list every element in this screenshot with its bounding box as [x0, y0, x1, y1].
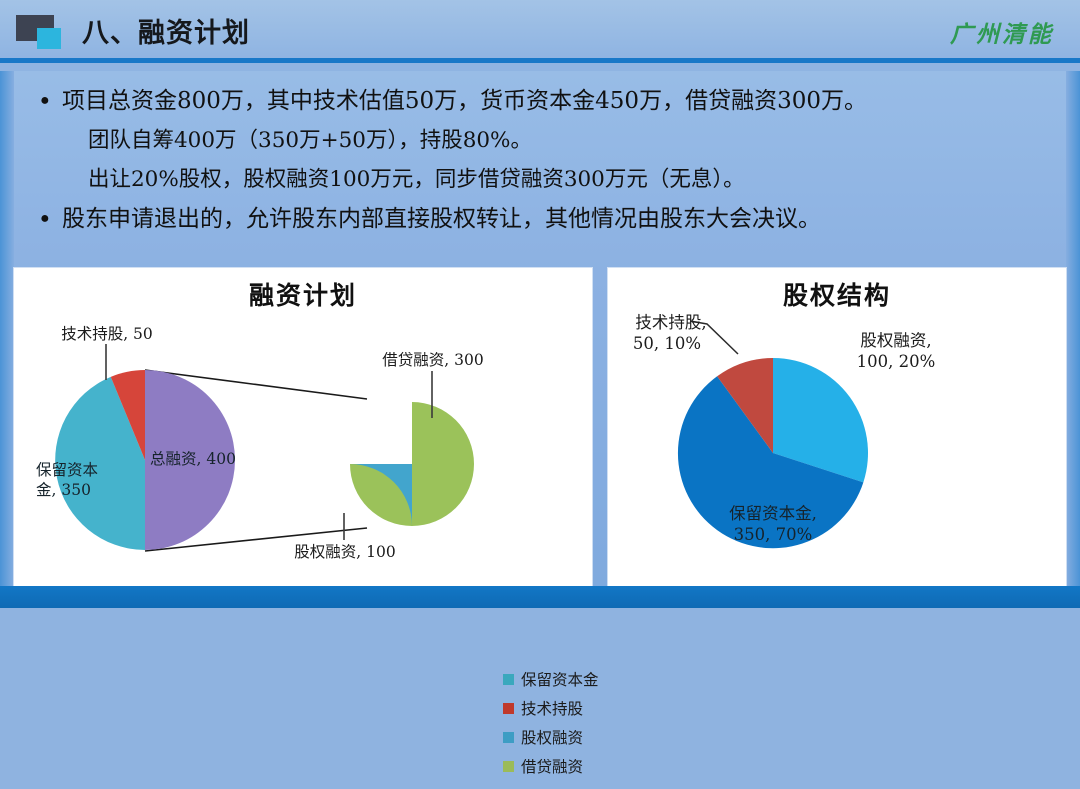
slide-left-edge	[0, 71, 14, 586]
bullet-item-2: ● 股东申请退出的，允许股东内部直接股权转让，其他情况由股东大会决议。	[36, 200, 1046, 238]
label-loan-financing: 借贷融资, 300	[359, 351, 507, 370]
chart-panel-equity-structure: 股权结构 技术持股, 50, 10% 股权融资, 100, 20% 保留资本金,…	[608, 268, 1066, 586]
label-equity-financing: 股权融资, 100	[271, 543, 419, 562]
bullet-text-2-1: 股东申请退出的，允许股东内部直接股权转让，其他情况由股东大会决议。	[62, 200, 821, 238]
bullet-item-1: ● 项目总资金800万，其中技术估值50万，货币资本金450万，借贷融资300万…	[36, 82, 1046, 120]
brand-logotype: 广州清能	[950, 15, 1054, 49]
legend-label: 技术持股	[521, 697, 583, 719]
legend-swatch-icon	[503, 761, 514, 772]
legend-swatch-icon	[503, 674, 514, 685]
legend-item: 借贷融资	[503, 755, 599, 777]
label-total-financing: 总融资, 400	[150, 450, 236, 469]
slide-bottom-bar	[0, 586, 1080, 608]
label-tech-holding: 技术持股, 50	[32, 325, 182, 344]
legend-label: 保留资本金	[521, 668, 599, 690]
legend-label: 借贷融资	[521, 755, 583, 777]
bullet-marker: ●	[36, 82, 62, 120]
legend-item: 技术持股	[503, 697, 599, 719]
label-equity-financing-2: 100, 20%	[826, 351, 966, 372]
slide-header: 八、融资计划 广州清能	[0, 0, 1080, 58]
legend-label: 股权融资	[521, 726, 583, 748]
bullet-list: ● 项目总资金800万，其中技术估值50万，货币资本金450万，借贷融资300万…	[36, 82, 1046, 240]
bullet-text-1-1: 项目总资金800万，其中技术估值50万，货币资本金450万，借贷融资300万。	[62, 82, 867, 120]
logo-squares-icon	[16, 15, 68, 51]
bullet-text-1-3: 出让20%股权，股权融资100万元，同步借贷融资300万元（无息）。	[62, 161, 745, 198]
legend-swatch-icon	[503, 732, 514, 743]
label-retained-capital-1: 保留资本金,	[703, 503, 843, 524]
label-retained-capital-2: 金, 350	[36, 481, 91, 500]
label-tech-holding-2: 50, 10%	[608, 333, 726, 354]
label-equity-financing-1: 股权融资,	[826, 330, 966, 351]
bullet-marker: ●	[36, 200, 62, 238]
chart-legend-financing-plan: 保留资本金 技术持股 股权融资 借贷融资	[503, 668, 599, 784]
bullet-text-1-2: 团队自筹400万（350万+50万），持股80%。	[62, 122, 532, 159]
bullet-item-1-line3: 出让20%股权，股权融资100万元，同步借贷融资300万元（无息）。	[36, 161, 1046, 198]
chart-panel-financing-plan: 融资计划 技术持股, 50 保留资本 金, 350 总融资, 400	[14, 268, 592, 586]
legend-item: 股权融资	[503, 726, 599, 748]
page-title: 八、融资计划	[82, 11, 250, 50]
logo-cyan-square	[37, 28, 61, 49]
label-retained-capital-2: 350, 70%	[703, 524, 843, 545]
financing-plan-pie-of-pie-svg	[14, 268, 592, 586]
label-retained-capital-1: 保留资本	[36, 461, 98, 480]
header-divider-shadow	[0, 63, 1080, 71]
legend-swatch-icon	[503, 703, 514, 714]
slide-right-edge	[1066, 71, 1080, 586]
label-tech-holding-1: 技术持股,	[608, 312, 734, 333]
bullet-item-1-line2: 团队自筹400万（350万+50万），持股80%。	[36, 122, 1046, 159]
legend-item: 保留资本金	[503, 668, 599, 690]
slide-root: 八、融资计划 广州清能 ● 项目总资金800万，其中技术估值50万，货币资本金4…	[0, 0, 1080, 608]
